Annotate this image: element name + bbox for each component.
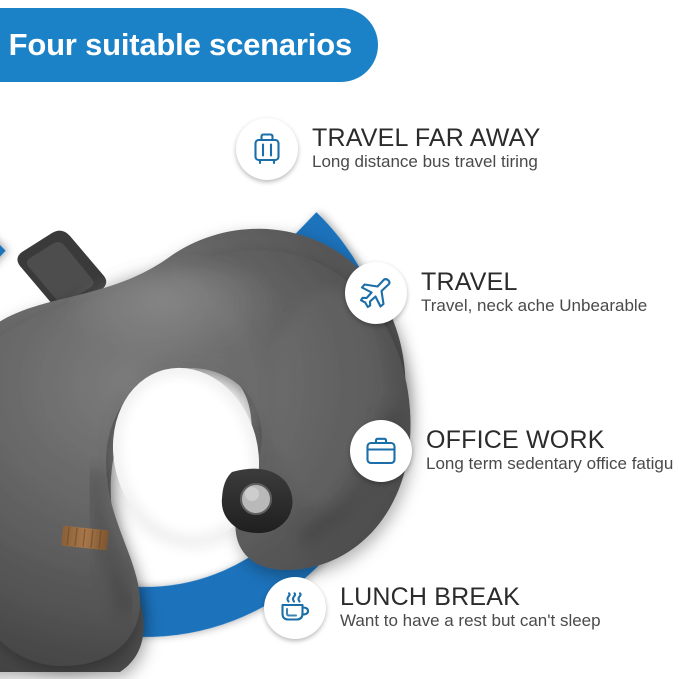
feature-item-travel: TRAVEL Travel, neck ache Unbearable (345, 262, 647, 324)
page-title: Four suitable scenarios (9, 27, 352, 63)
product-infographic: Four suitable scenarios TRAVEL FAR AWAY … (0, 0, 679, 679)
coffee-cup-icon (264, 577, 326, 639)
feature-subtitle: Long term sedentary office fatigu (426, 454, 673, 474)
briefcase-icon (350, 420, 412, 482)
feature-item-travel-far-away: TRAVEL FAR AWAY Long distance bus travel… (236, 118, 541, 180)
feature-item-office-work: OFFICE WORK Long term sedentary office f… (350, 420, 673, 482)
feature-item-lunch-break: LUNCH BREAK Want to have a rest but can'… (264, 577, 601, 639)
feature-title: OFFICE WORK (426, 427, 673, 453)
feature-subtitle: Travel, neck ache Unbearable (421, 296, 647, 316)
feature-title: TRAVEL (421, 269, 647, 295)
suitcase-icon (236, 118, 298, 180)
airplane-icon (345, 262, 407, 324)
feature-text-block: TRAVEL FAR AWAY Long distance bus travel… (312, 125, 541, 172)
feature-text-block: LUNCH BREAK Want to have a rest but can'… (340, 584, 601, 631)
feature-subtitle: Long distance bus travel tiring (312, 152, 541, 172)
feature-text-block: TRAVEL Travel, neck ache Unbearable (421, 269, 647, 316)
feature-text-block: OFFICE WORK Long term sedentary office f… (426, 427, 673, 474)
header-banner: Four suitable scenarios (0, 8, 378, 82)
feature-title: TRAVEL FAR AWAY (312, 125, 541, 151)
feature-title: LUNCH BREAK (340, 584, 601, 610)
feature-subtitle: Want to have a rest but can't sleep (340, 611, 601, 631)
pillow-snap-clasp (222, 469, 293, 533)
